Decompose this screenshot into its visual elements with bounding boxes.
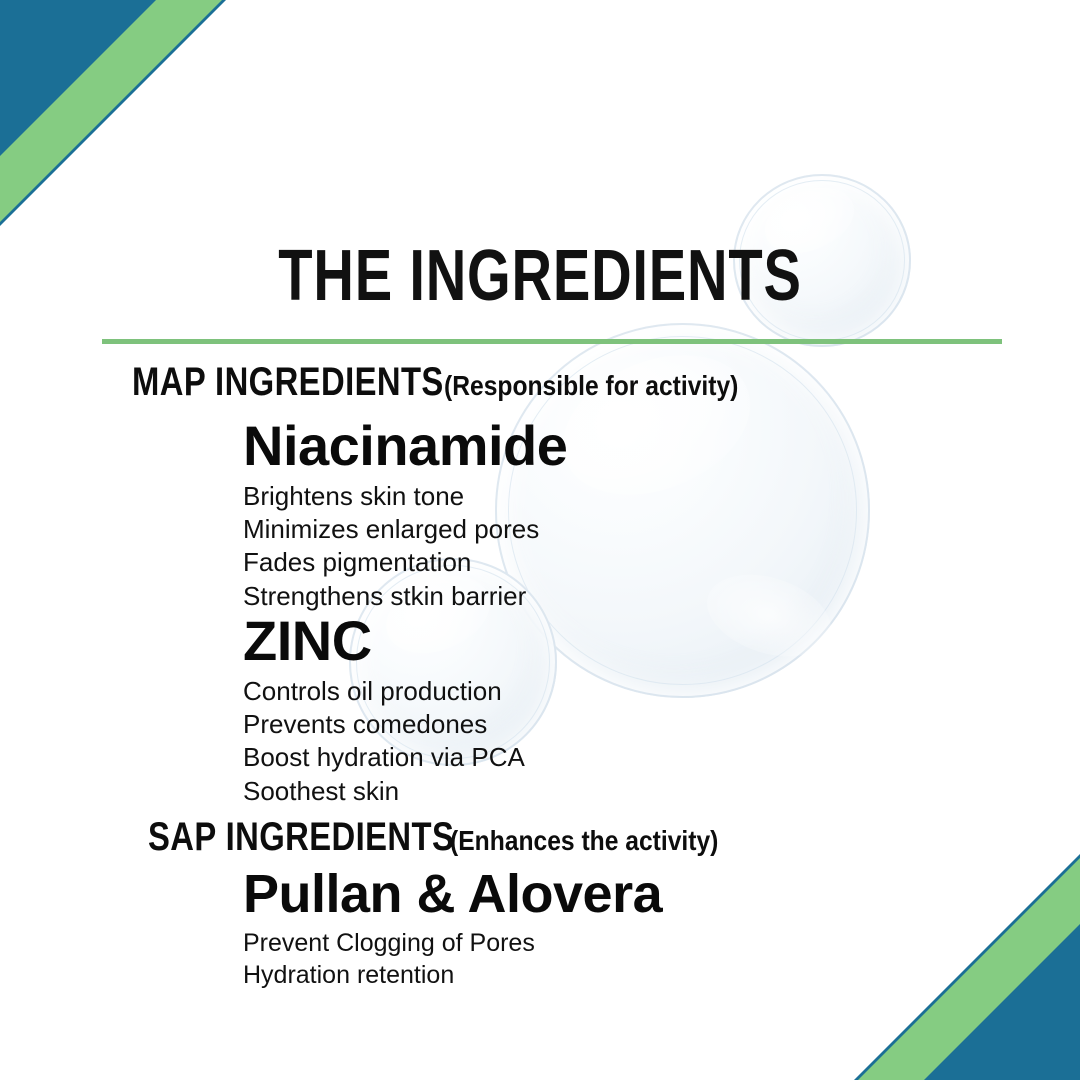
section-heading-note: (Responsible for activity) <box>444 370 738 402</box>
section-heading-sap: SAP INGREDIENTS (Enhances the activity) <box>148 815 754 860</box>
page-title: THE INGREDIENTS <box>119 240 961 312</box>
list-item: Minimizes enlarged pores <box>243 513 567 546</box>
ingredient-benefit-list: Controls oil production Prevents comedon… <box>243 675 525 808</box>
list-item: Prevents comedones <box>243 708 525 741</box>
section-heading-map: MAP INGREDIENTS (Responsible for activit… <box>132 360 779 405</box>
ingredient-name: Niacinamide <box>243 417 567 476</box>
list-item: Brightens skin tone <box>243 480 567 513</box>
section-heading-label: MAP INGREDIENTS <box>132 360 444 405</box>
slide-canvas: THE INGREDIENTS MAP INGREDIENTS (Respons… <box>0 0 1080 1080</box>
ingredient-name: Pullan & Alovera <box>243 866 662 923</box>
section-heading-note: (Enhances the activity) <box>450 825 718 857</box>
title-divider <box>102 339 1002 344</box>
ingredient-niacinamide: Niacinamide Brightens skin tone Minimize… <box>243 417 567 613</box>
section-heading-label: SAP INGREDIENTS <box>148 815 454 860</box>
slide-content: THE INGREDIENTS MAP INGREDIENTS (Respons… <box>0 0 1080 1080</box>
ingredient-pullan-alovera: Pullan & Alovera Prevent Clogging of Por… <box>243 866 662 992</box>
list-item: Prevent Clogging of Pores <box>243 927 662 960</box>
list-item: Hydration retention <box>243 959 662 992</box>
ingredient-zinc: ZINC Controls oil production Prevents co… <box>243 612 525 808</box>
list-item: Fades pigmentation <box>243 546 567 579</box>
ingredient-name: ZINC <box>243 612 525 671</box>
list-item: Soothest skin <box>243 775 525 808</box>
list-item: Strengthens stkin barrier <box>243 580 567 613</box>
ingredient-benefit-list: Brightens skin tone Minimizes enlarged p… <box>243 480 567 613</box>
ingredient-benefit-list: Prevent Clogging of Pores Hydration rete… <box>243 927 662 992</box>
list-item: Controls oil production <box>243 675 525 708</box>
list-item: Boost hydration via PCA <box>243 741 525 774</box>
